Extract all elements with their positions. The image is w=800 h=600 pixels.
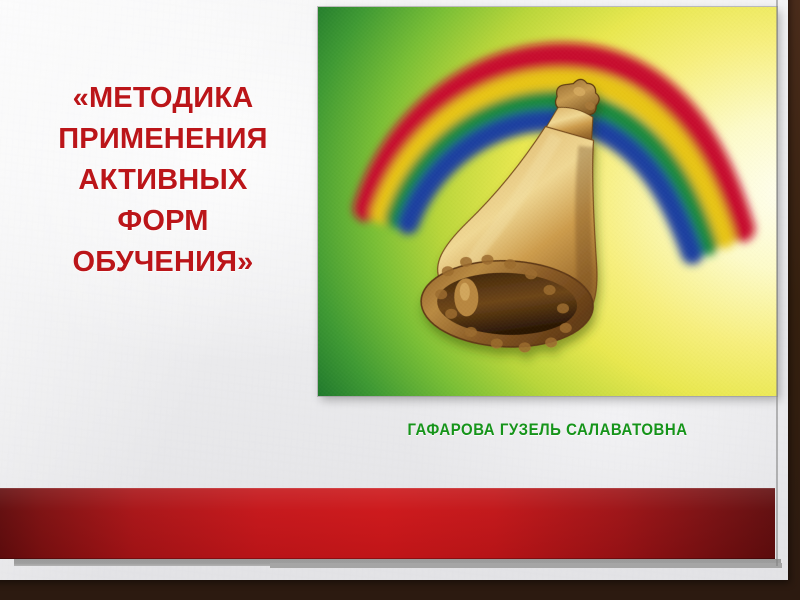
accent-bar-shadow-secondary (270, 563, 782, 568)
title-line-4: ФОРМ (18, 201, 308, 242)
title-line-1: «МЕТОДИКА (18, 78, 308, 119)
school-bell-rainbow-image (318, 7, 777, 396)
title-line-3: АКТИВНЫХ (18, 160, 308, 201)
title-line-5: ОБУЧЕНИЯ» (18, 242, 308, 283)
panel-right-edge (776, 0, 778, 566)
bell-rainbow-illustration (318, 7, 777, 396)
slide-root: «МЕТОДИКА ПРИМЕНЕНИЯ АКТИВНЫХ ФОРМ ОБУЧЕ… (0, 0, 800, 600)
accent-bar (0, 488, 775, 559)
page-title: «МЕТОДИКА ПРИМЕНЕНИЯ АКТИВНЫХ ФОРМ ОБУЧЕ… (18, 78, 308, 283)
accent-bar-gloss (0, 488, 775, 559)
author-subtitle: ГАФАРОВА ГУЗЕЛЬ САЛАВАТОВНА (346, 420, 750, 440)
title-line-2: ПРИМЕНЕНИЯ (18, 119, 308, 160)
